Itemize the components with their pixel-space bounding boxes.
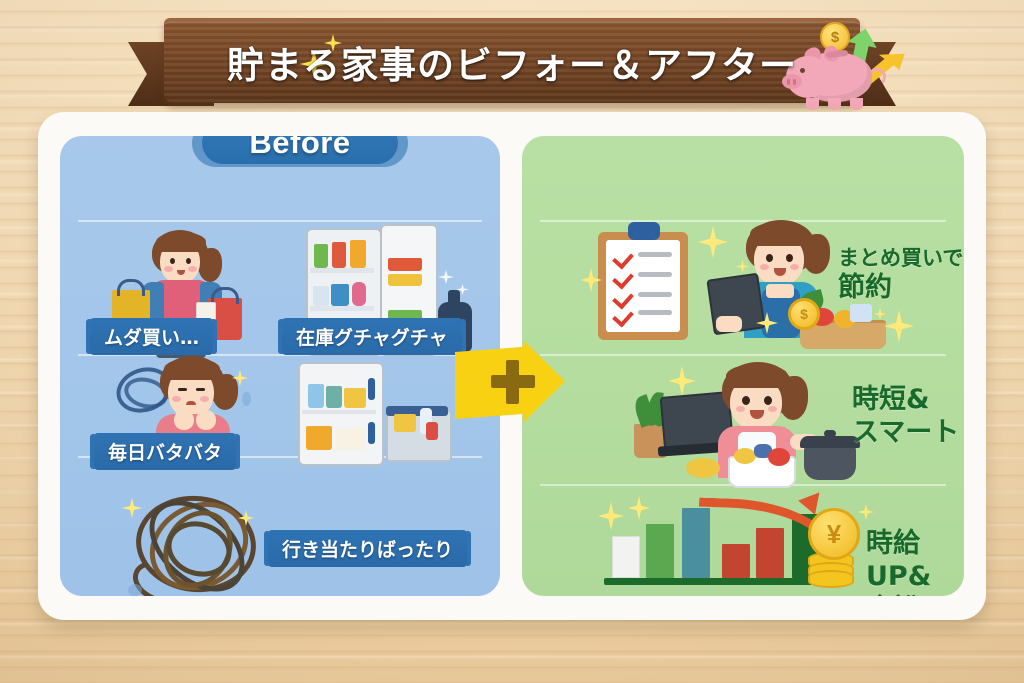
title-banner: 貯まる家事のビフォー＆アフター $ (128, 12, 896, 112)
piggy-leg (806, 98, 819, 110)
after-caption-2-line1: 時短& (852, 384, 959, 417)
before-panel: ムダ買い… 在庫グチャグチャ (60, 136, 500, 596)
row-divider (540, 354, 946, 356)
chart-bar (646, 524, 674, 578)
laptop-cooking-icon (628, 362, 858, 484)
fridge-and-basket-icon (292, 362, 472, 470)
checklist-clipboard-icon (580, 220, 710, 342)
before-caption-1: ムダ買い… (90, 318, 213, 355)
after-caption-3-line1: 時給UP& (866, 528, 964, 594)
piggy-bank-icon: $ (780, 18, 900, 114)
infographic-canvas: 貯まる家事のビフォー＆アフター $ (0, 0, 1024, 683)
after-caption-2-line2: スマート (852, 417, 959, 450)
before-caption-3: 毎日バタバタ (94, 433, 236, 470)
ribbon-body: 貯まる家事のビフォー＆アフター (164, 18, 860, 103)
piggy-tail (868, 68, 886, 86)
before-caption-4: 行き当たりばったり (268, 530, 467, 567)
before-badge: Before (202, 136, 398, 164)
after-caption-1: まとめ買いで 節約 (838, 246, 963, 305)
chart-bar (612, 536, 640, 578)
piggy-leg (850, 98, 863, 110)
row-divider (78, 220, 482, 222)
piggy-eye (800, 68, 805, 73)
after-caption-3-line2: 余裕 (866, 594, 964, 596)
before-caption-2: 在庫グチャグチャ (282, 318, 462, 355)
after-caption-1-line1: まとめ買いで (838, 246, 963, 272)
after-caption-1-line2: 節約 (838, 272, 963, 305)
piggy-leg (828, 98, 841, 110)
plus-icon (489, 358, 537, 406)
after-caption-3: 時給UP& 余裕 (866, 528, 964, 596)
after-caption-2: 時短& スマート (852, 384, 959, 450)
after-panel: $ まとめ買いで 節約 (522, 136, 964, 596)
page-title: 貯まる家事のビフォー＆アフター (227, 35, 797, 89)
growth-chart-icon: ¥ (592, 496, 852, 586)
